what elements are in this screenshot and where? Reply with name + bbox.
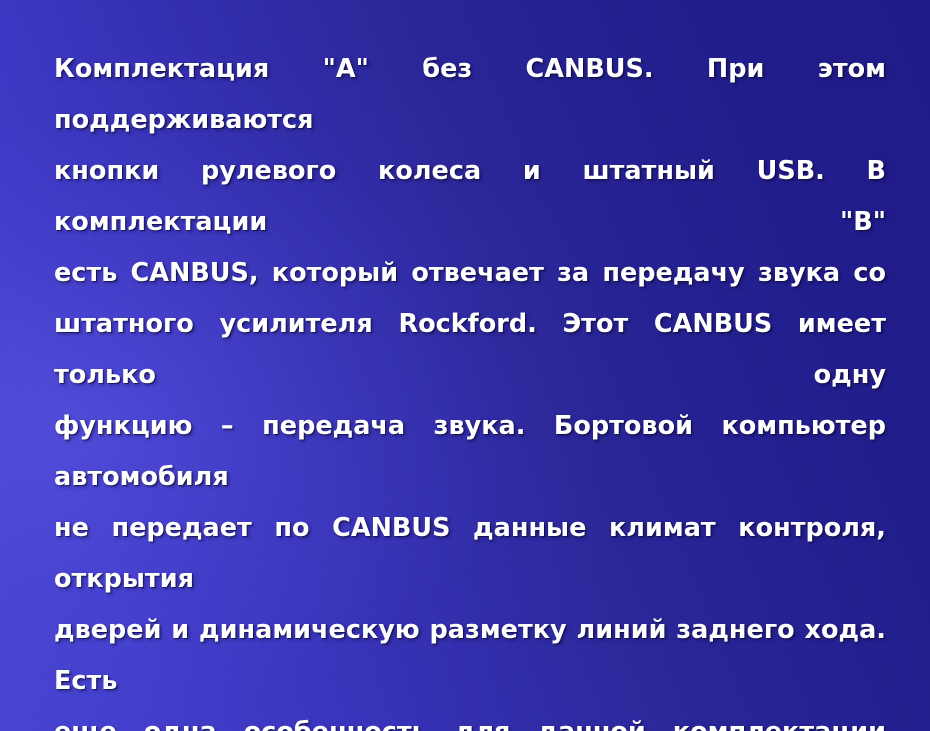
body-text-line: штатного усилителя Rockford. Этот CANBUS…	[54, 299, 886, 401]
body-text-line: дверей и динамическую разметку линий зад…	[54, 605, 886, 707]
body-text-line: не передает по CANBUS данные климат конт…	[54, 503, 886, 605]
body-text-line: Комплектация "А" без CANBUS. При этом по…	[54, 44, 886, 146]
body-text-line: кнопки рулевого колеса и штатный USB. В …	[54, 146, 886, 248]
body-text-line: есть CANBUS, который отвечает за передач…	[54, 248, 886, 299]
body-text-line: функцию – передача звука. Бортовой компь…	[54, 401, 886, 503]
body-text-block: Комплектация "А" без CANBUS. При этом по…	[54, 44, 886, 731]
slide-canvas: Комплектация "А" без CANBUS. При этом по…	[0, 0, 930, 731]
body-text-line: еще одна особенность для данной комплект…	[54, 707, 886, 731]
